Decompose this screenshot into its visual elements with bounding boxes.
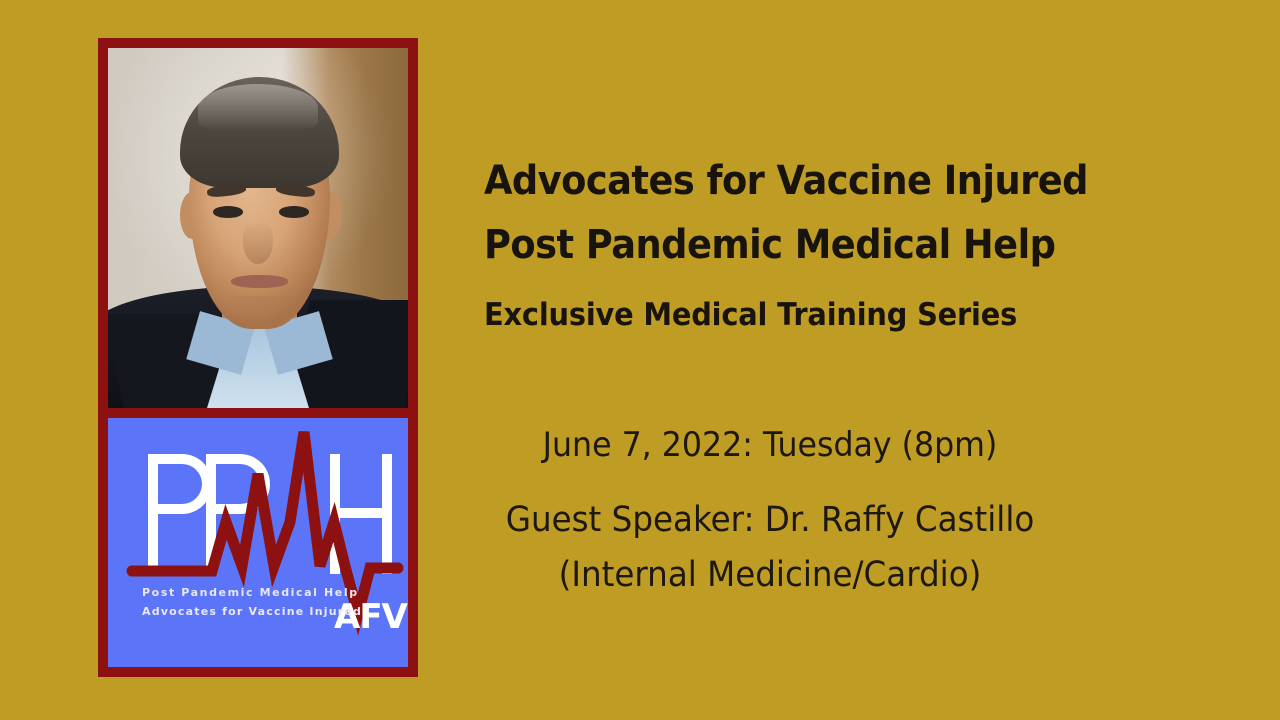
logo-tagline-line-1: Post Pandemic Medical Help xyxy=(142,586,359,599)
ppmh-logo: AFVI Post Pandemic Medical Help Advocate… xyxy=(108,418,408,667)
subtitle: Exclusive Medical Training Series xyxy=(484,300,1017,331)
speaker-photo xyxy=(108,48,408,408)
logo-tagline-line-2: Advocates for Vaccine Injured xyxy=(142,605,362,618)
chin xyxy=(222,296,297,318)
hair-highlight xyxy=(198,84,318,131)
media-frame: AFVI Post Pandemic Medical Help Advocate… xyxy=(98,38,418,677)
text-column: Advocates for Vaccine Injured Post Pande… xyxy=(440,0,1280,720)
mouth xyxy=(231,275,288,288)
ppmh-logo-graphic: AFVI Post Pandemic Medical Help Advocate… xyxy=(108,418,408,667)
guest-speaker: Guest Speaker: Dr. Raffy Castillo xyxy=(463,503,1077,538)
title-line-2: Post Pandemic Medical Help xyxy=(484,225,1055,265)
eye-left xyxy=(213,206,243,218)
event-date: June 7, 2022: Tuesday (8pm) xyxy=(463,428,1077,462)
speaker-specialty: (Internal Medicine/Cardio) xyxy=(463,558,1077,593)
title-line-1: Advocates for Vaccine Injured xyxy=(484,161,1088,201)
eye-right xyxy=(279,206,309,218)
nose xyxy=(243,221,273,264)
